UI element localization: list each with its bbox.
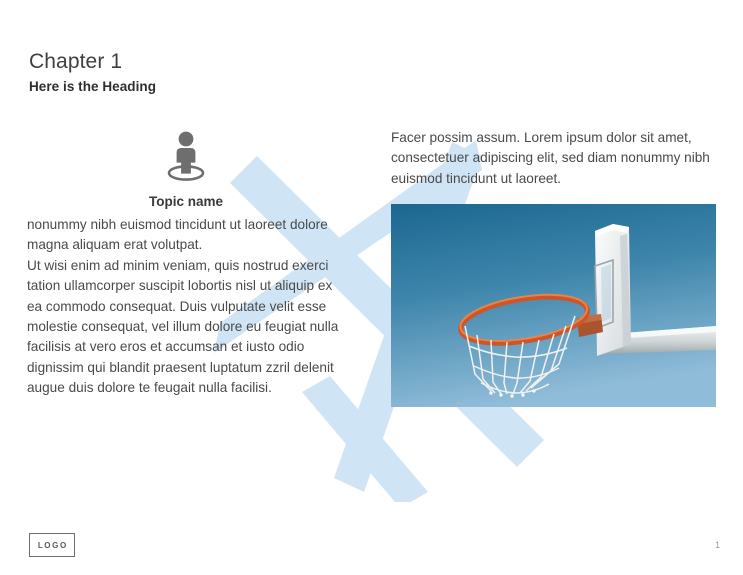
page-title: Chapter 1 bbox=[29, 49, 156, 75]
page-number: 1 bbox=[715, 540, 720, 550]
left-body-paragraph-2: Ut wisi enim ad minim veniam, quis nostr… bbox=[27, 256, 345, 399]
left-body-text: nonummy nibh euismod tincidunt ut laoree… bbox=[27, 215, 345, 399]
left-content-column: Topic name nonummy nibh euismod tincidun… bbox=[27, 128, 345, 399]
right-content-column: Facer possim assum. Lorem ipsum dolor si… bbox=[391, 128, 716, 189]
slide-canvas: Chapter 1 Here is the Heading Topic name… bbox=[0, 0, 743, 575]
basketball-hoop-photo bbox=[391, 204, 716, 407]
page-subheading: Here is the Heading bbox=[29, 79, 156, 94]
right-intro-text: Facer possim assum. Lorem ipsum dolor si… bbox=[391, 128, 716, 189]
slide-header: Chapter 1 Here is the Heading bbox=[29, 49, 156, 94]
logo-label: LOGO bbox=[36, 541, 68, 550]
topic-name-label: Topic name bbox=[27, 194, 345, 209]
person-in-circle-icon bbox=[27, 128, 345, 186]
logo-badge: LOGO bbox=[29, 533, 75, 557]
left-body-paragraph-1: nonummy nibh euismod tincidunt ut laoree… bbox=[27, 215, 345, 256]
